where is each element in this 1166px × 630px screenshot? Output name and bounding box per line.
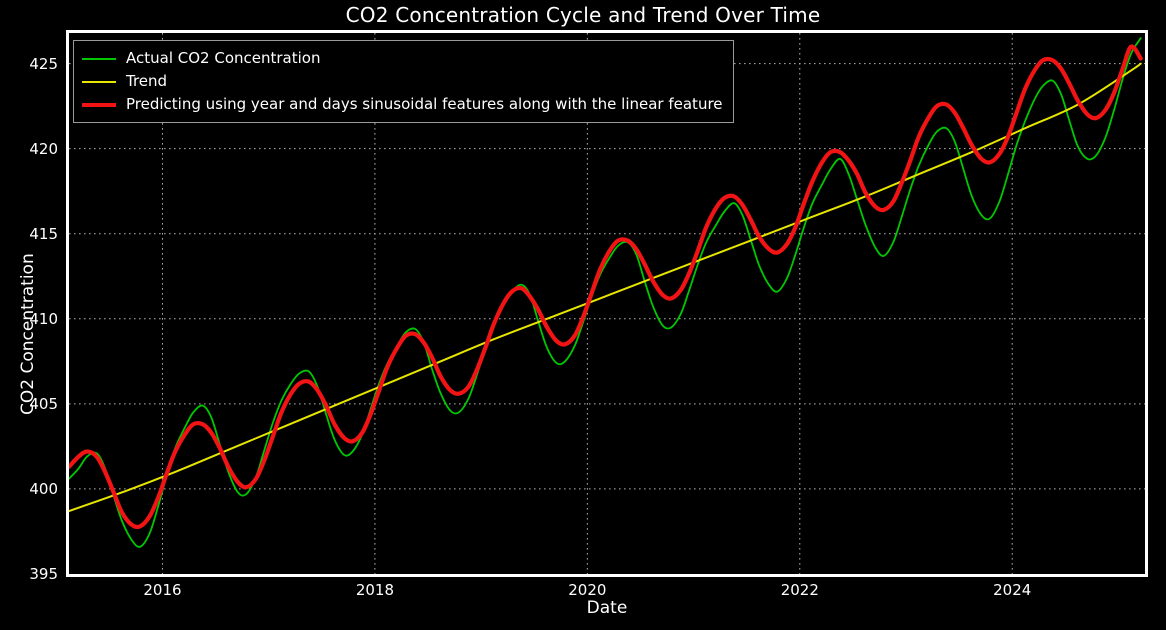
y-tick-label: 425 — [10, 55, 58, 73]
legend-item[interactable]: Predicting using year and days sinusoida… — [82, 93, 723, 116]
y-tick-label: 395 — [10, 565, 58, 583]
legend-label: Trend — [126, 70, 167, 93]
series-line-1 — [69, 64, 1141, 511]
y-tick-label: 400 — [10, 480, 58, 498]
legend-item[interactable]: Trend — [82, 70, 723, 93]
x-tick-label: 2016 — [143, 581, 181, 599]
x-axis-label: Date — [66, 598, 1148, 618]
legend-label: Predicting using year and days sinusoida… — [126, 93, 723, 116]
legend: Actual CO2 ConcentrationTrendPredicting … — [73, 40, 734, 123]
y-tick-label: 420 — [10, 140, 58, 158]
legend-label: Actual CO2 Concentration — [126, 47, 320, 70]
legend-swatch-icon — [82, 58, 116, 60]
x-tick-label: 2018 — [356, 581, 394, 599]
legend-swatch-icon — [82, 103, 116, 107]
legend-item[interactable]: Actual CO2 Concentration — [82, 47, 723, 70]
y-tick-label: 415 — [10, 225, 58, 243]
legend-swatch-icon — [82, 81, 116, 83]
x-tick-label: 2020 — [568, 581, 606, 599]
x-tick-label: 2024 — [993, 581, 1031, 599]
chart-figure: CO2 Concentration Cycle and Trend Over T… — [0, 0, 1166, 630]
x-tick-label: 2022 — [781, 581, 819, 599]
y-axis-label: CO2 Concentration — [18, 253, 38, 415]
chart-title: CO2 Concentration Cycle and Trend Over T… — [0, 2, 1166, 28]
